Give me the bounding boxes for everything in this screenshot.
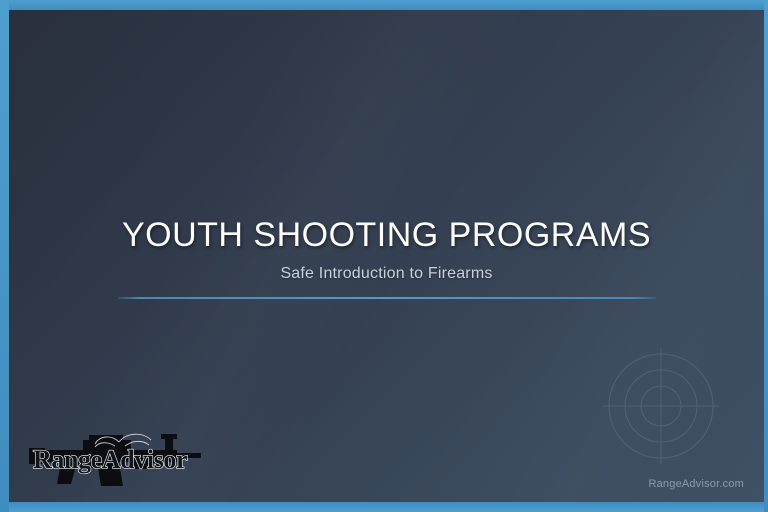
slide-canvas: YOUTH SHOOTING PROGRAMS Safe Introductio… <box>9 10 764 502</box>
brand-wordmark: RangeAdvisor <box>33 445 187 474</box>
frame-border-bottom <box>0 502 768 512</box>
frame-border-left <box>0 0 9 512</box>
title-block: YOUTH SHOOTING PROGRAMS Safe Introductio… <box>9 216 764 299</box>
crosshair-target-icon <box>601 346 721 466</box>
frame-border-top <box>0 0 768 10</box>
site-watermark: RangeAdvisor.com <box>648 478 744 490</box>
frame-border-right <box>764 0 768 512</box>
title-divider <box>118 297 656 299</box>
page-title: YOUTH SHOOTING PROGRAMS <box>9 216 764 255</box>
slide-frame: YOUTH SHOOTING PROGRAMS Safe Introductio… <box>0 0 768 512</box>
brand-logo: RangeAdvisor <box>27 424 205 490</box>
page-subtitle: Safe Introduction to Firearms <box>9 265 764 283</box>
